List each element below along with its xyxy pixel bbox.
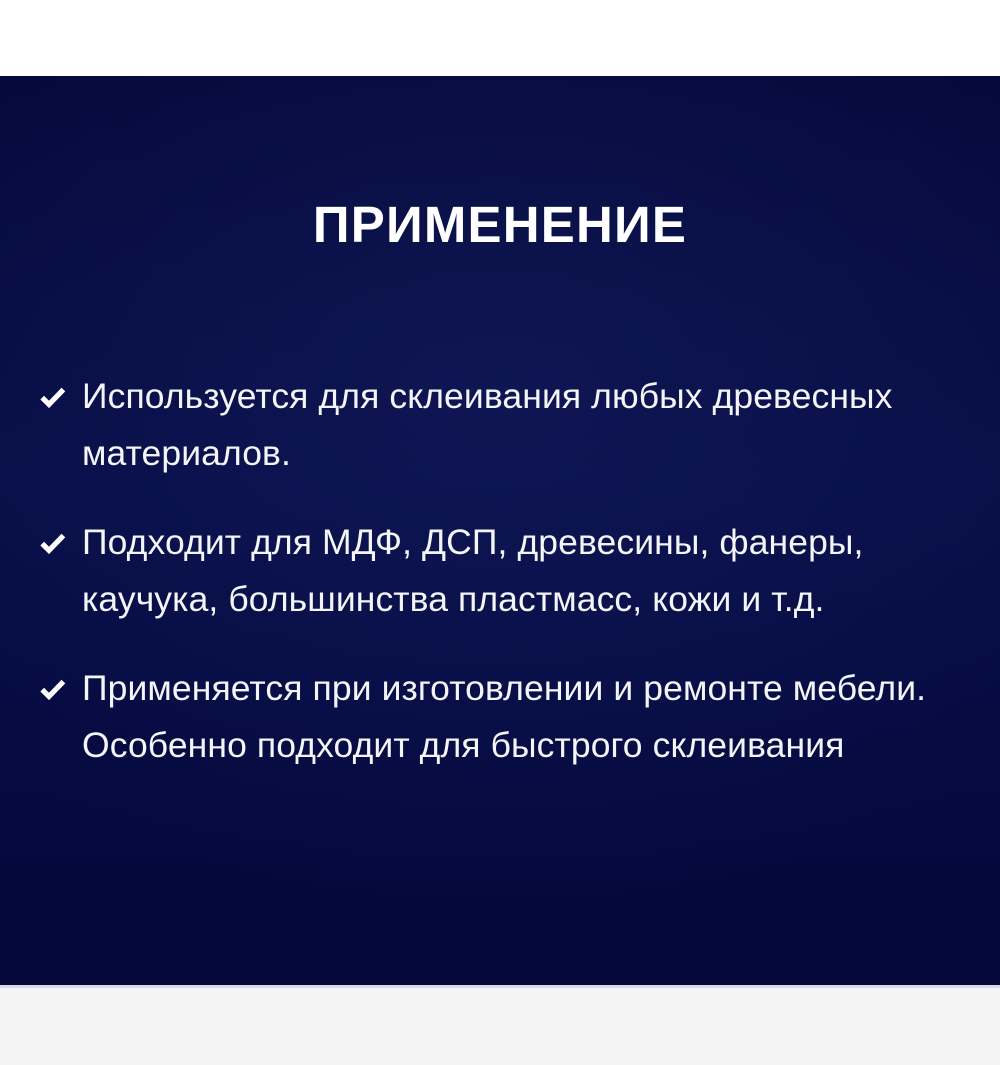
- bullet-list: Используется для склеивания любых древес…: [36, 368, 976, 774]
- check-icon: [40, 660, 70, 717]
- list-item-label: Подходит для МДФ, ДСП, древесины, фанеры…: [82, 514, 976, 628]
- list-item-label: Применяется при изготовлении и ремонте м…: [82, 660, 976, 774]
- bottom-light-strip: [0, 985, 1000, 1065]
- list-item: Подходит для МДФ, ДСП, древесины, фанеры…: [36, 514, 976, 628]
- check-icon: [40, 514, 70, 571]
- list-item: Применяется при изготовлении и ремонте м…: [36, 660, 976, 774]
- page-title: ПРИМЕНЕНИЕ: [0, 198, 1000, 252]
- list-item: Используется для склеивания любых древес…: [36, 368, 976, 482]
- slide-panel: ПРИМЕНЕНИЕ Используется для склеивания л…: [0, 76, 1000, 985]
- check-icon: [40, 368, 70, 425]
- list-item-label: Используется для склеивания любых древес…: [82, 368, 976, 482]
- top-white-strip: [0, 0, 1000, 76]
